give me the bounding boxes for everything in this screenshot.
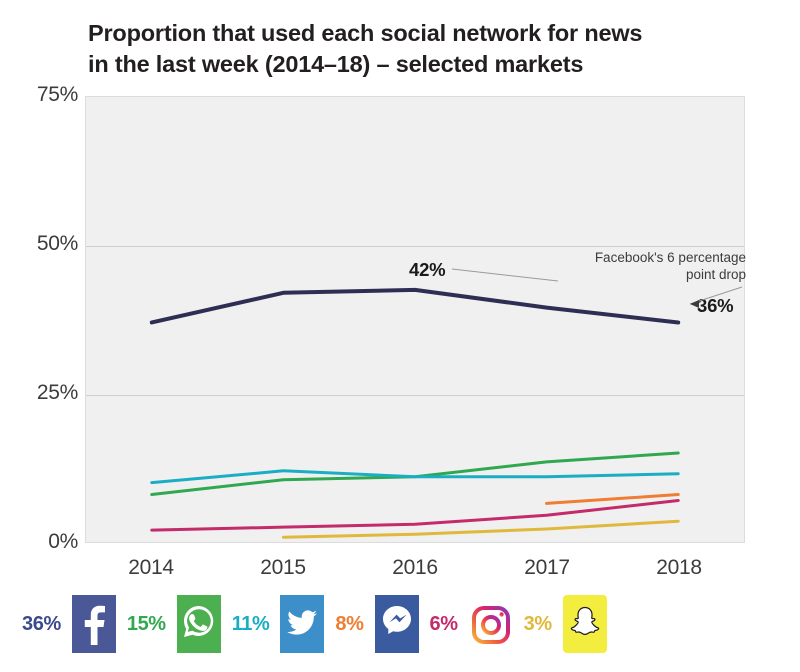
x-tick-label: 2017 xyxy=(492,556,602,580)
legend: 36%15%11%8%6%3% xyxy=(22,588,611,660)
x-tick-label: 2016 xyxy=(360,556,470,580)
series-line-whatsapp xyxy=(152,453,678,495)
snapchat-icon xyxy=(559,592,611,656)
legend-item-messenger[interactable]: 8% xyxy=(328,592,422,656)
legend-value-facebook: 36% xyxy=(22,613,61,636)
title-line-2: in the last week (2014–18) – selected ma… xyxy=(88,49,748,80)
series-layer xyxy=(86,97,744,542)
legend-item-facebook[interactable]: 36% xyxy=(22,592,120,656)
y-tick-label: 50% xyxy=(8,232,78,256)
callout-note: Facebook's 6 percentage point drop xyxy=(558,249,746,284)
title-line-1: Proportion that used each social network… xyxy=(88,18,748,49)
legend-item-instagram[interactable]: 6% xyxy=(423,592,517,656)
y-axis: 0%25%50%75% xyxy=(0,0,78,672)
x-tick-label: 2014 xyxy=(96,556,206,580)
y-tick-label: 25% xyxy=(8,381,78,405)
messenger-icon xyxy=(371,592,423,656)
chart-figure: Proportion that used each social network… xyxy=(0,0,800,672)
series-line-facebook xyxy=(152,290,678,323)
legend-value-twitter: 11% xyxy=(232,613,270,636)
legend-value-instagram: 6% xyxy=(430,613,458,636)
end-value-label: 36% xyxy=(697,295,733,317)
series-line-snapchat xyxy=(283,521,678,537)
legend-value-whatsapp: 15% xyxy=(127,613,166,636)
series-line-twitter xyxy=(152,471,678,483)
plot-area xyxy=(85,96,745,543)
x-tick-label: 2015 xyxy=(228,556,338,580)
peak-value-label: 42% xyxy=(409,259,445,281)
facebook-icon xyxy=(68,592,120,656)
y-tick-label: 0% xyxy=(8,530,78,554)
legend-item-twitter[interactable]: 11% xyxy=(225,592,329,656)
legend-value-snapchat: 3% xyxy=(524,613,552,636)
instagram-icon xyxy=(465,592,517,656)
y-tick-label: 75% xyxy=(8,83,78,107)
whatsapp-icon xyxy=(173,592,225,656)
legend-item-snapchat[interactable]: 3% xyxy=(517,592,611,656)
twitter-icon xyxy=(276,592,328,656)
legend-value-messenger: 8% xyxy=(335,613,363,636)
x-tick-label: 2018 xyxy=(624,556,734,580)
page-title: Proportion that used each social network… xyxy=(88,18,748,81)
legend-item-whatsapp[interactable]: 15% xyxy=(120,592,225,656)
